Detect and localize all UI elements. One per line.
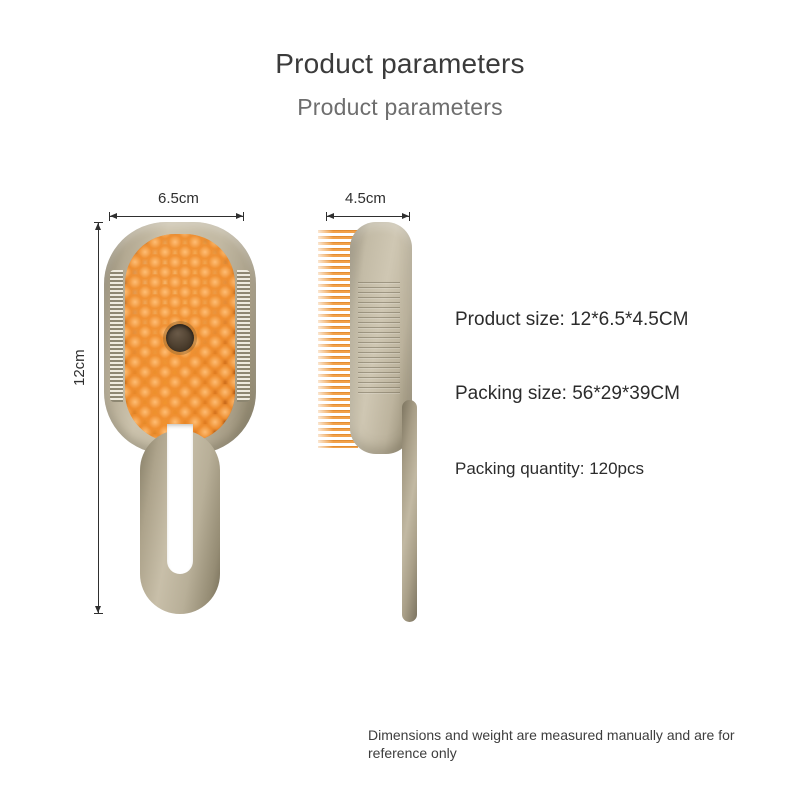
dimension-label-width-side: 4.5cm (345, 190, 386, 207)
dimension-arrow-height (94, 222, 103, 614)
arrowhead-right (402, 213, 409, 219)
comb-grooves (358, 282, 400, 394)
arrow-shaft (98, 222, 99, 614)
product-side-view (318, 222, 434, 622)
arrow-shaft (326, 216, 410, 217)
dimension-label-height: 12cm (71, 349, 88, 386)
dimension-label-width-front: 6.5cm (158, 190, 199, 207)
loop-handle (140, 430, 220, 614)
arrow-cap-right (409, 212, 410, 221)
arrowhead-right (236, 213, 243, 219)
arrow-cap-right (243, 212, 244, 221)
spec-product-size: Product size: 12*6.5*4.5CM (455, 309, 688, 331)
spec-packing-quantity: Packing quantity: 120pcs (455, 459, 644, 479)
spec-packing-size: Packing size: 56*29*39CM (455, 383, 680, 405)
comb-teeth-right (237, 270, 250, 402)
comb-teeth-left (110, 270, 123, 402)
disclaimer-note: Dimensions and weight are measured manua… (368, 726, 776, 763)
brush-head-shell (104, 222, 256, 454)
loop-handle-opening (167, 424, 193, 574)
dimension-arrow-width-side (326, 212, 410, 221)
page-subtitle: Product parameters (0, 94, 800, 121)
steam-nozzle-hole (166, 324, 194, 352)
arrowhead-left (110, 213, 117, 219)
side-handle-bar (402, 400, 417, 622)
arrowhead-bottom (95, 606, 101, 613)
product-front-view (104, 222, 256, 614)
dimension-arrow-width-front (109, 212, 244, 221)
arrowhead-left (327, 213, 334, 219)
arrow-cap-bottom (94, 613, 103, 614)
arrow-shaft (109, 216, 244, 217)
arrowhead-top (95, 223, 101, 230)
page-title: Product parameters (0, 48, 800, 80)
